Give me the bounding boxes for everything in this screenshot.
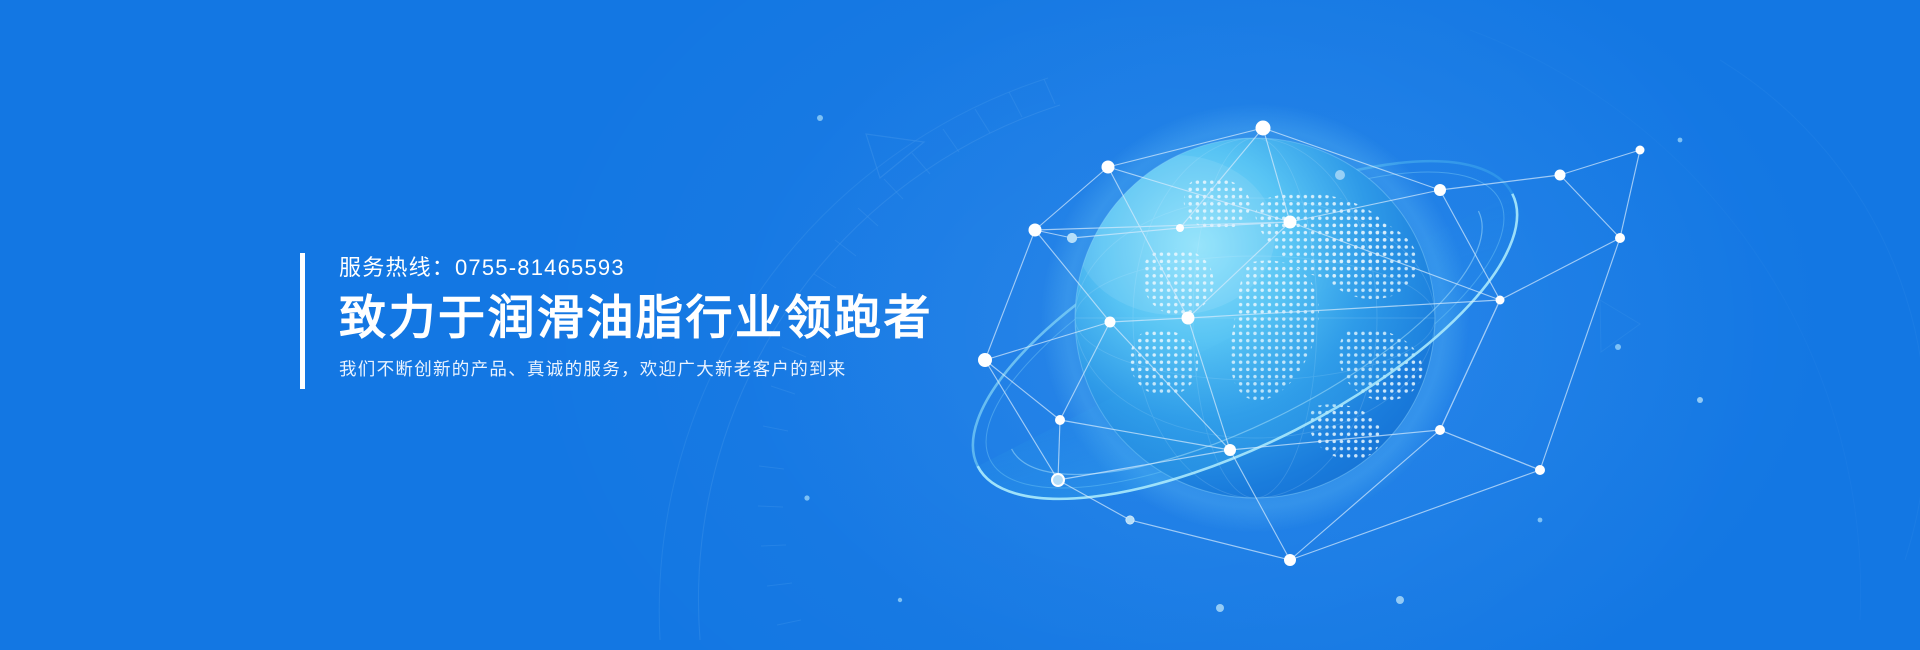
page-title: 致力于润滑油脂行业领跑者 — [339, 287, 933, 349]
background-decorations — [0, 0, 1920, 650]
hotline-text: 服务热线：0755-81465593 — [339, 253, 933, 283]
globe-network-illustration — [0, 0, 1920, 650]
hero-text-block: 服务热线：0755-81465593 致力于润滑油脂行业领跑者 我们不断创新的产… — [300, 253, 933, 389]
background-glow — [0, 0, 1920, 650]
hero-banner: 服务热线：0755-81465593 致力于润滑油脂行业领跑者 我们不断创新的产… — [0, 0, 1920, 650]
subtitle-text: 我们不断创新的产品、真诚的服务，欢迎广大新老客户的到来 — [339, 355, 933, 383]
